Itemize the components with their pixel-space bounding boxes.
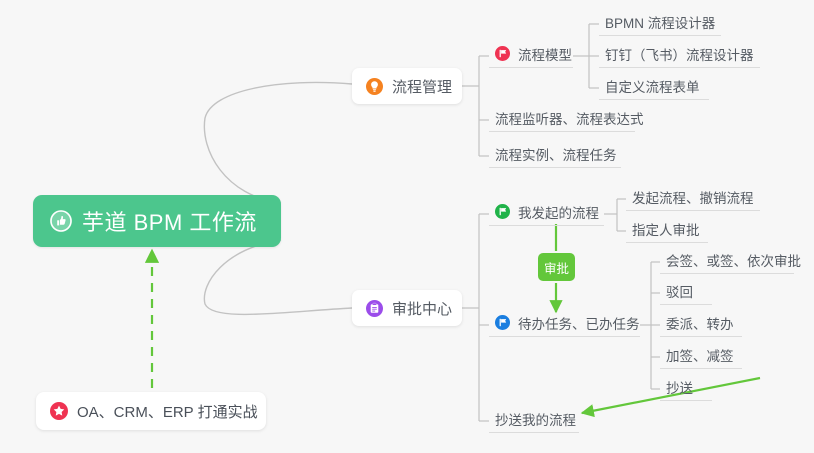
node-add-remove-sign[interactable]: 加签、减签 <box>660 345 742 369</box>
node-reject[interactable]: 驳回 <box>660 281 712 305</box>
node-approval-center[interactable]: 审批中心 <box>352 290 462 326</box>
node-start-cancel-flow-label: 发起流程、撤销流程 <box>632 187 754 207</box>
flag-icon <box>495 315 510 330</box>
node-flow-instance-task-label: 流程实例、流程任务 <box>495 144 617 164</box>
node-approval-center-label: 审批中心 <box>392 298 452 319</box>
node-cc-to-me-flows-label: 抄送我的流程 <box>495 409 576 429</box>
node-custom-flow-form[interactable]: 自定义流程表单 <box>599 76 709 100</box>
root-label: 芋道 BPM 工作流 <box>82 205 257 237</box>
node-flow-management[interactable]: 流程管理 <box>352 68 462 104</box>
flag-icon <box>495 46 510 61</box>
node-delegate-transfer[interactable]: 委派、转办 <box>660 313 742 337</box>
node-countersign-orsign-sequential-label: 会签、或签、依次审批 <box>666 250 801 270</box>
root-node[interactable]: 芋道 BPM 工作流 <box>33 195 281 247</box>
node-flow-management-label: 流程管理 <box>392 76 452 97</box>
lightbulb-icon <box>366 78 383 95</box>
node-bpmn-designer-label: BPMN 流程设计器 <box>605 12 715 32</box>
node-assignee-approval-label: 指定人审批 <box>632 219 700 239</box>
node-integration-practice-label: OA、CRM、ERP 打通实战 <box>77 401 258 422</box>
node-flow-listener-expression[interactable]: 流程监听器、流程表达式 <box>489 108 635 132</box>
node-flow-instance-task[interactable]: 流程实例、流程任务 <box>489 144 621 168</box>
node-start-cancel-flow[interactable]: 发起流程、撤销流程 <box>626 187 760 211</box>
node-todo-done-tasks[interactable]: 待办任务、已办任务 <box>489 313 640 337</box>
node-delegate-transfer-label: 委派、转办 <box>666 313 734 333</box>
node-dingtalk-feishu-designer[interactable]: 钉钉（飞书）流程设计器 <box>599 44 760 68</box>
node-assignee-approval[interactable]: 指定人审批 <box>626 219 708 243</box>
flag-icon <box>495 204 510 219</box>
link-root-to-approval <box>204 240 352 314</box>
mindmap-canvas: 芋道 BPM 工作流 流程管理 流程模型 BPMN 流程设计器 钉钉（飞书）流程 <box>0 0 814 453</box>
star-icon <box>50 402 68 420</box>
node-reject-label: 驳回 <box>666 281 693 301</box>
node-my-initiated-flows[interactable]: 我发起的流程 <box>489 202 604 226</box>
node-cc-label: 抄送 <box>666 377 693 397</box>
approve-tag: 审批 <box>538 253 575 281</box>
node-flow-model[interactable]: 流程模型 <box>489 44 573 68</box>
node-my-initiated-flows-label: 我发起的流程 <box>518 202 599 222</box>
node-integration-practice[interactable]: OA、CRM、ERP 打通实战 <box>36 392 266 430</box>
node-cc[interactable]: 抄送 <box>660 377 712 401</box>
node-cc-to-me-flows[interactable]: 抄送我的流程 <box>489 409 579 433</box>
node-bpmn-designer[interactable]: BPMN 流程设计器 <box>599 12 721 36</box>
node-add-remove-sign-label: 加签、减签 <box>666 345 734 365</box>
link-root-to-flow-mgmt <box>204 82 352 203</box>
node-dingtalk-feishu-designer-label: 钉钉（飞书）流程设计器 <box>605 44 754 64</box>
node-custom-flow-form-label: 自定义流程表单 <box>605 76 700 96</box>
node-countersign-orsign-sequential[interactable]: 会签、或签、依次审批 <box>660 250 794 274</box>
node-flow-model-label: 流程模型 <box>518 44 572 64</box>
node-flow-listener-expression-label: 流程监听器、流程表达式 <box>495 108 644 128</box>
approve-tag-label: 审批 <box>544 258 569 277</box>
thumbs-up-icon <box>50 210 72 232</box>
node-todo-done-tasks-label: 待办任务、已办任务 <box>518 313 640 333</box>
clipboard-icon <box>366 300 383 317</box>
